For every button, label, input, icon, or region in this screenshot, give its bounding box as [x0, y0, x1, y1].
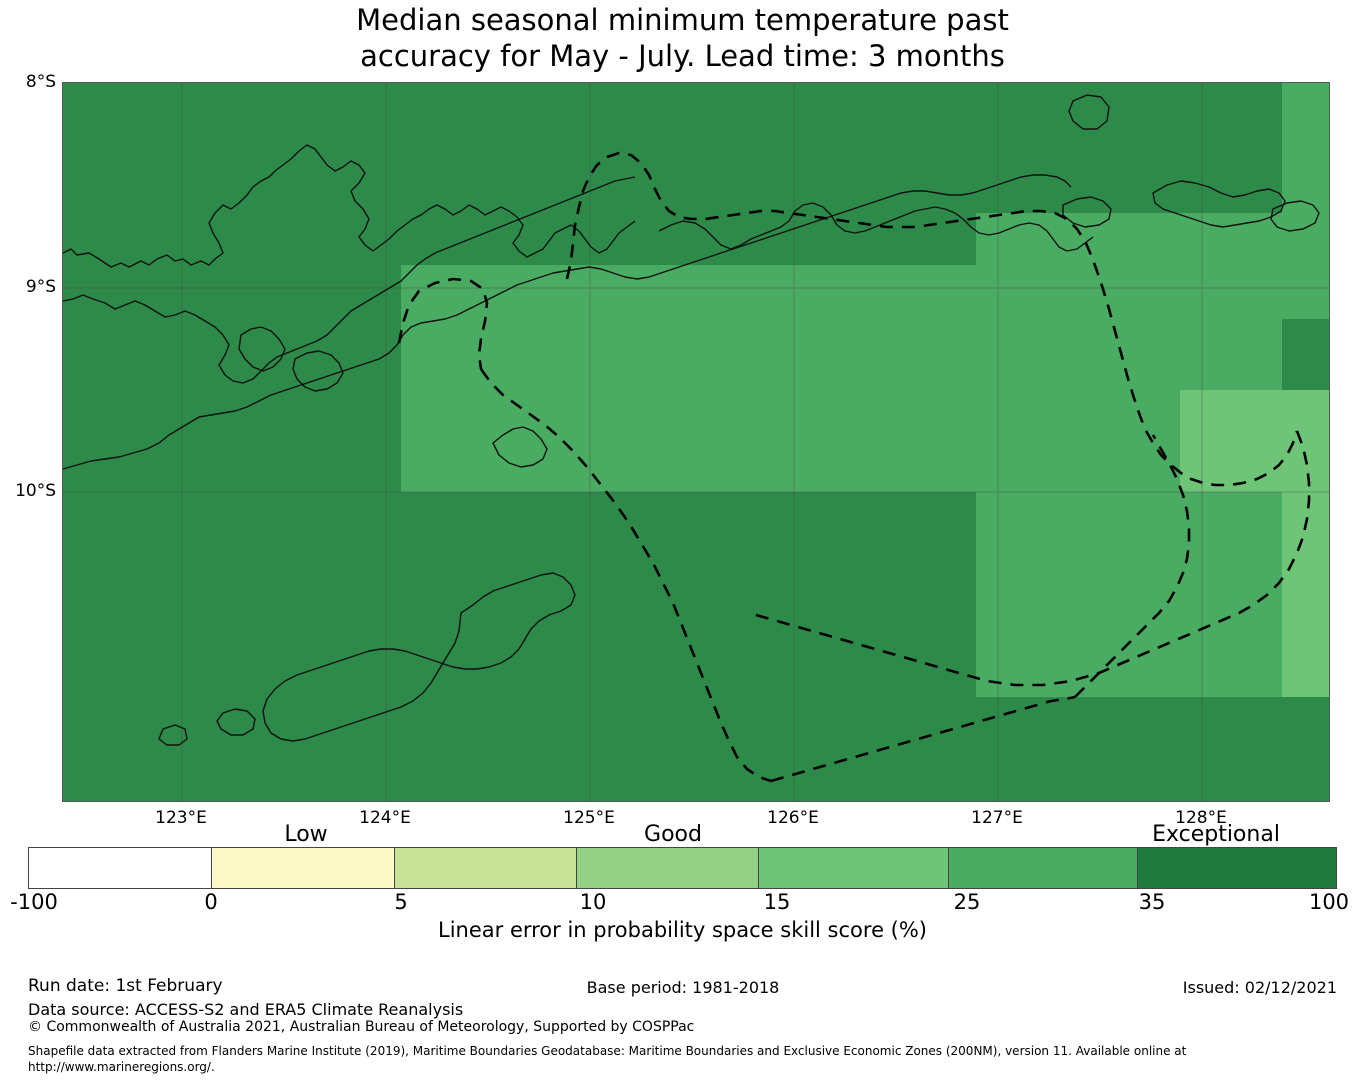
colorbar-gradient — [28, 847, 1337, 889]
xtick-label-124e: 124°E — [359, 808, 411, 828]
cbar-category-low: Low — [284, 822, 327, 847]
cbar-tick-neg100: -100 — [10, 890, 58, 914]
ytick-label-8s: 8°S — [0, 72, 56, 92]
footer-run-date: Run date: 1st February — [28, 976, 223, 996]
cbar-tick-35: 35 — [1139, 890, 1166, 914]
colorbar-axis-label: Linear error in probability space skill … — [0, 918, 1365, 942]
cbar-segment-25-35 — [948, 848, 1138, 888]
cbar-segment-35-100 — [1137, 848, 1336, 888]
cbar-tick-25: 25 — [954, 890, 981, 914]
footer-issued: Issued: 02/12/2021 — [1183, 978, 1337, 997]
cbar-tick-15: 15 — [764, 890, 791, 914]
map-panel — [62, 82, 1330, 802]
cbar-tick-100: 100 — [1309, 890, 1349, 914]
footer-data-source: Data source: ACCESS-S2 and ERA5 Climate … — [28, 1000, 463, 1019]
cbar-tick-10: 10 — [580, 890, 607, 914]
cbar-category-good: Good — [644, 822, 702, 847]
cbar-tick-0: 0 — [204, 890, 217, 914]
cbar-segment-15-25 — [758, 848, 948, 888]
figure-root: Median seasonal minimum temperature past… — [0, 0, 1365, 1080]
cbar-segment-10-15 — [576, 848, 758, 888]
page-title: Median seasonal minimum temperature past… — [0, 2, 1365, 74]
xtick-label-123e: 123°E — [155, 808, 207, 828]
cbar-tick-5: 5 — [394, 890, 407, 914]
footer-base-period: Base period: 1981-2018 — [587, 978, 780, 997]
cbar-category-exceptional: Exceptional — [1152, 822, 1280, 847]
xtick-label-126e: 126°E — [767, 808, 819, 828]
cbar-segment-neg100-0 — [29, 848, 211, 888]
colorbar — [28, 847, 1337, 889]
cbar-segment-5-10 — [394, 848, 576, 888]
map-svg — [63, 83, 1330, 802]
ytick-label-10s: 10°S — [0, 481, 56, 501]
xtick-label-125e: 125°E — [563, 808, 615, 828]
xtick-label-127e: 127°E — [971, 808, 1023, 828]
footer-shapefile-line2: http://www.marineregions.org/. — [28, 1060, 215, 1074]
ytick-label-9s: 9°S — [0, 277, 56, 297]
footer-shapefile-line1: Shapefile data extracted from Flanders M… — [28, 1044, 1186, 1058]
footer-copyright: © Commonwealth of Australia 2021, Austra… — [28, 1019, 694, 1035]
cbar-segment-0-5 — [211, 848, 393, 888]
